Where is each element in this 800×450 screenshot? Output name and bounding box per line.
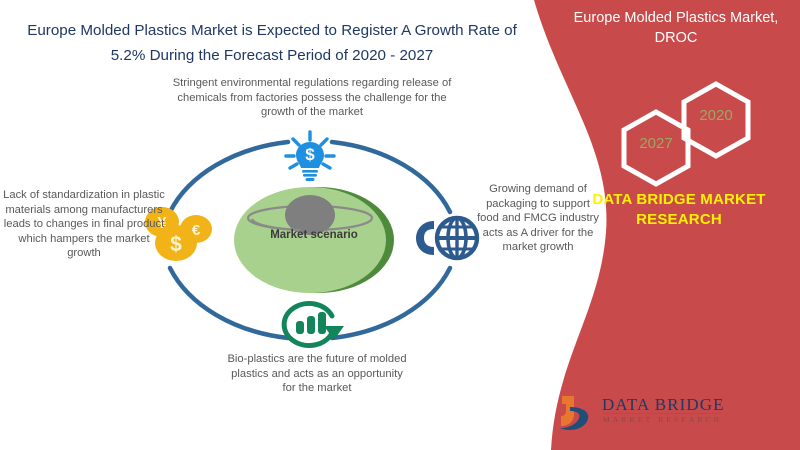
blurb-challenge: Lack of standardization in plastic mater… [2,188,166,261]
svg-text:$: $ [170,233,182,256]
center-label: Market scenario [268,228,360,243]
data-bridge-logo: DATA BRIDGE MARKET RESEARCH [556,392,756,436]
panel-title: Europe Molded Plastics Market, DROC [560,8,792,48]
hexagon-2020 [684,84,748,156]
hexagon-year-group [612,78,772,198]
logo-main-text: DATA BRIDGE [602,395,725,415]
hexagon-2027 [624,112,688,184]
blurb-opportunity: Bio-plastics are the future of molded pl… [226,352,408,396]
blurb-driver: Growing demand of packaging to support f… [474,182,602,255]
page-title: Europe Molded Plastics Market is Expecte… [22,18,522,68]
logo-mark-icon [556,392,602,436]
svg-text:$: $ [305,145,315,164]
infographic-canvas: Europe Molded Plastics Market, DROC 2027… [0,0,800,450]
blurb-restraint: Stringent environmental regulations rega… [172,76,452,120]
globe-icon [416,217,477,259]
lightbulb-dollar-icon: $ [286,132,334,181]
logo-sub-text: MARKET RESEARCH [603,415,722,424]
